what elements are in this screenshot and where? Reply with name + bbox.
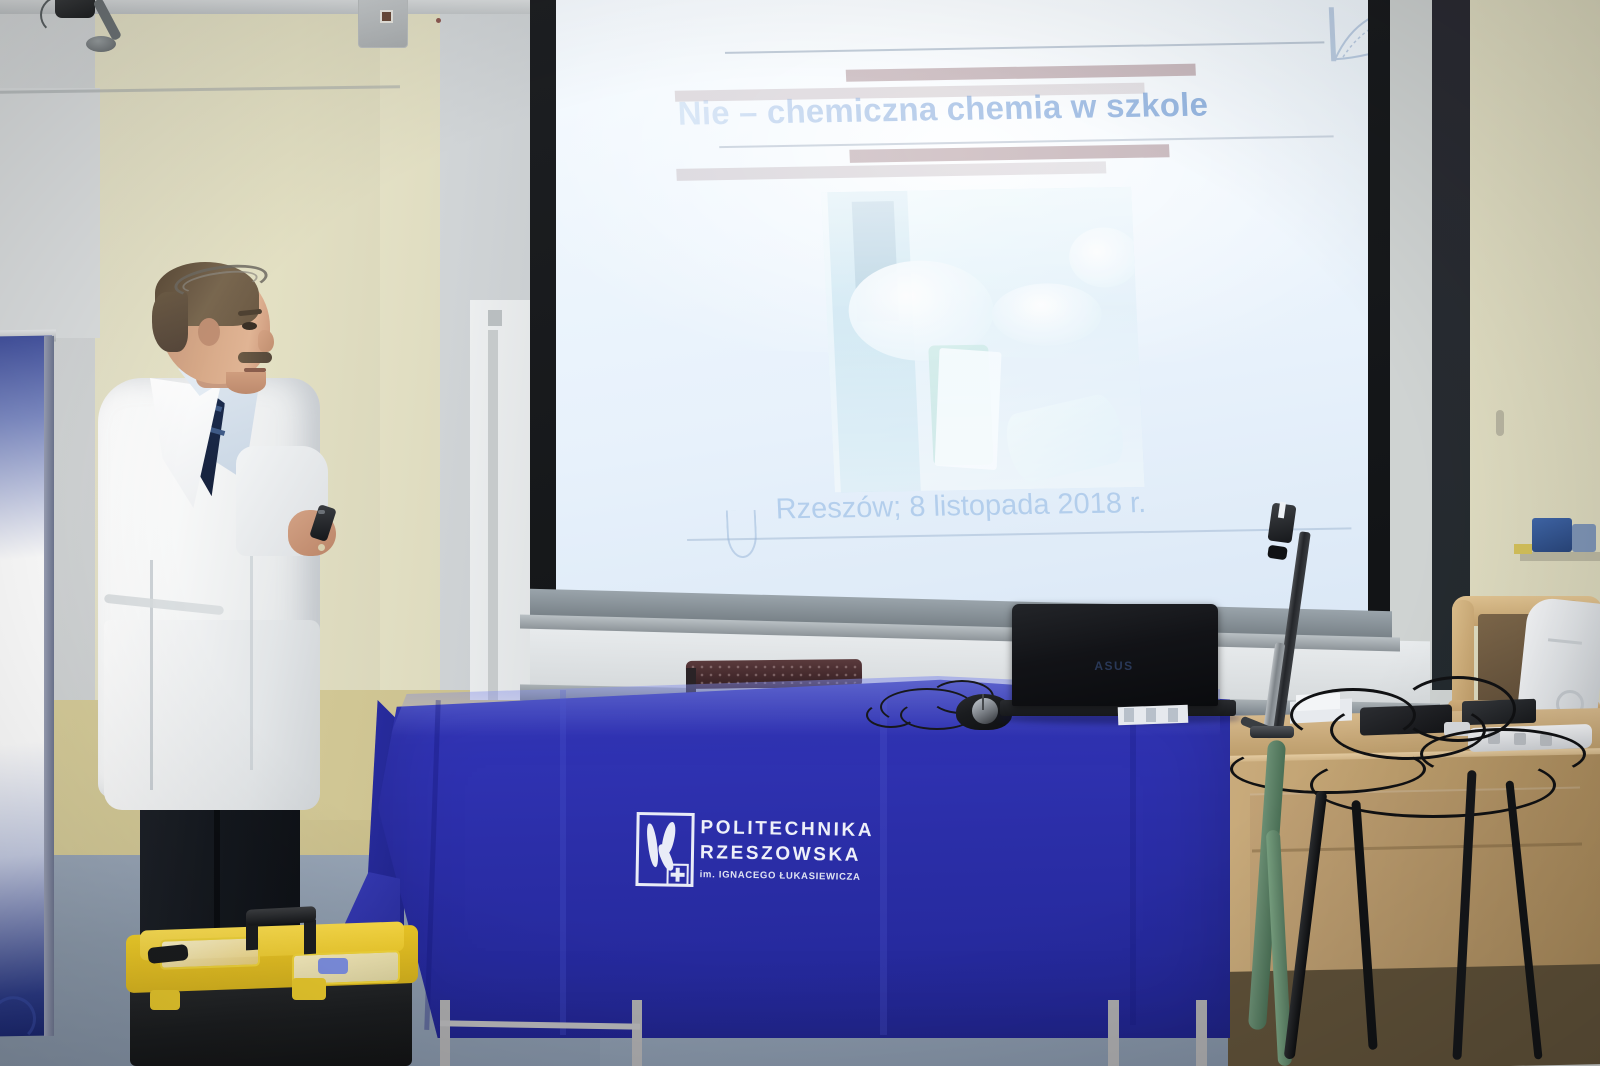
presenter-hair-side	[152, 292, 188, 352]
photo-scene: Nie – chemiczna chemia w szkole Rzeszów;…	[0, 0, 1600, 1066]
banner-logo-arc	[0, 996, 36, 1037]
slide-content: Nie – chemiczna chemia w szkole Rzeszów;…	[665, 31, 1348, 563]
wall-right	[1470, 0, 1600, 700]
remote-indicator	[318, 510, 325, 514]
speaker-indicator	[380, 10, 393, 23]
projection-screen: Nie – chemiczna chemia w szkole Rzeszów;…	[556, 0, 1368, 617]
laptop-brand-logo: ASUS	[1090, 660, 1138, 673]
wall-hook	[1496, 410, 1504, 436]
table-leg-3	[1108, 1000, 1119, 1066]
table-leg-1	[440, 1000, 450, 1066]
university-logo: POLITECHNIKA RZESZOWSKA im. IGNACEGO ŁUK…	[635, 810, 866, 898]
laptop-paper-mark-3	[1168, 708, 1178, 722]
tablecloth-fold-2	[560, 690, 566, 1035]
shelf-box-blue	[1532, 518, 1572, 552]
mouse-cable-4	[866, 702, 916, 728]
slide-accent-bar-3	[849, 144, 1169, 163]
slide-corner-artwork	[1322, 0, 1368, 69]
slide-photo-wash	[821, 187, 1144, 492]
camera-mount	[86, 36, 116, 52]
slide-squiggle-mark	[726, 510, 758, 559]
slide-accent-bar-1	[846, 64, 1196, 82]
whiteboard-rail	[488, 330, 498, 700]
shelf-box-grey	[1572, 524, 1596, 552]
mouse-highlight	[972, 698, 998, 724]
wall-white-band	[0, 88, 100, 338]
desk-cable-6	[1310, 752, 1556, 818]
logo-line-2: RZESZOWSKA	[700, 842, 861, 867]
laptop[interactable]	[1012, 604, 1218, 706]
laptop-paper-mark-2	[1146, 708, 1156, 722]
logo-line-3: im. IGNACEGO ŁUKASIEWICZA	[700, 869, 861, 883]
presenter-ear	[198, 318, 220, 346]
presenter-ring	[318, 544, 325, 551]
table-leg-2	[632, 1000, 642, 1066]
logo-cross-icon	[666, 864, 688, 886]
slide-accent-bar-4	[676, 161, 1106, 181]
wall-speaker-icon	[358, 0, 408, 48]
presenter-chin	[226, 372, 266, 394]
slide-rule-top	[725, 41, 1324, 53]
toolbox-latch-right[interactable]	[292, 978, 326, 1000]
wall-dark-strip	[1432, 0, 1470, 690]
shelf-item-yellow	[1514, 544, 1532, 554]
toolbox-latch-left[interactable]	[150, 990, 180, 1010]
wall-marking	[436, 18, 441, 23]
presenter-coat-lower	[104, 620, 320, 810]
logo-mark-icon	[635, 812, 694, 887]
laptop-paper-mark-1	[1124, 708, 1134, 722]
presenter-eye	[242, 322, 257, 330]
toolbox-handle-post-right	[304, 920, 316, 955]
tablecloth-fold-3	[880, 690, 887, 1035]
presenter-nose	[258, 330, 274, 352]
mic-stand-foot	[1250, 726, 1294, 738]
slide-photo	[821, 187, 1144, 492]
table-leg-4	[1196, 1000, 1207, 1066]
wall-shelf	[1520, 552, 1600, 561]
banner-edge	[44, 336, 54, 1036]
whiteboard-bracket	[488, 310, 502, 326]
mouse-button-split[interactable]	[982, 694, 984, 710]
toolbox-tray-contents	[318, 958, 348, 974]
logo-line-1: POLITECHNIKA	[700, 817, 874, 842]
tablecloth-fold-4	[1130, 690, 1136, 1025]
presenter-moustache	[238, 352, 272, 363]
coat-fold-1	[150, 560, 153, 790]
slide-rule-bottom	[687, 527, 1351, 541]
presenter-leg-gap	[214, 790, 220, 950]
mic-stand-knob[interactable]	[1267, 545, 1288, 561]
ceiling-camera-icon	[55, 0, 95, 18]
